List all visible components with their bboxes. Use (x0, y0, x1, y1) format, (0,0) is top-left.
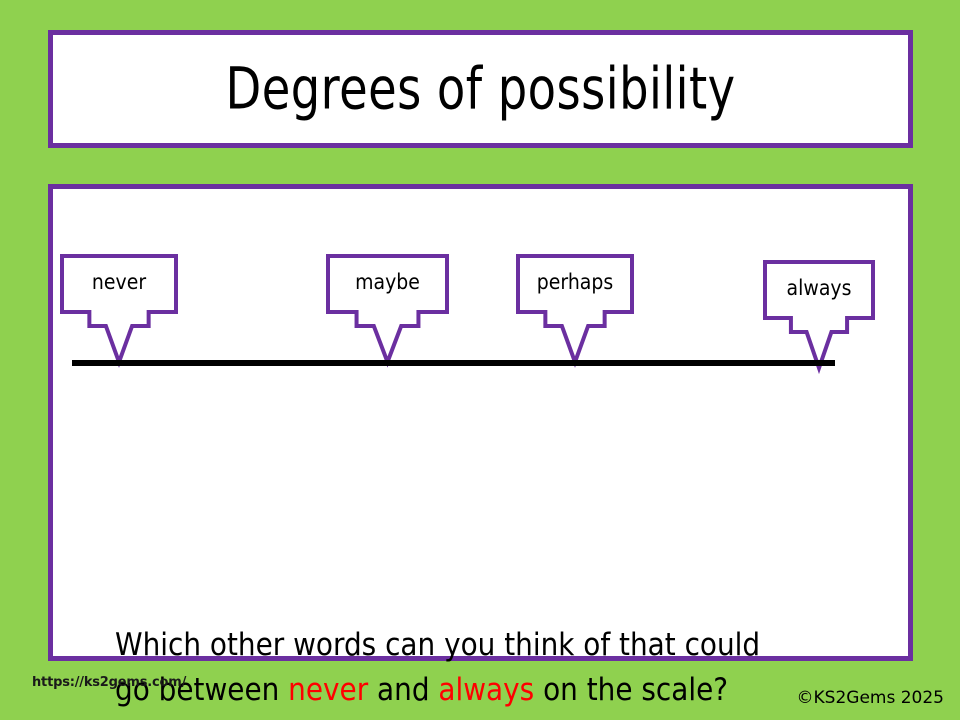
callout-maybe[interactable]: maybe (328, 256, 447, 362)
question-highlight-never: never (288, 672, 368, 708)
callout-perhaps[interactable]: perhaps (518, 256, 632, 362)
copyright-label: ©KS2Gems 2025 (797, 688, 944, 708)
page-title: Degrees of possibility (225, 60, 735, 118)
question-line2-suffix: on the scale? (534, 672, 728, 708)
callout-label-never: never (68, 272, 171, 293)
question-line-1: Which other words can you think of that … (115, 623, 862, 668)
title-panel: Degrees of possibility (48, 30, 913, 148)
question-text: Which other words can you think of that … (115, 623, 862, 713)
callout-label-perhaps: perhaps (524, 272, 627, 293)
question-line1-text: Which other words can you think of that … (115, 627, 760, 663)
question-highlight-always: always (438, 672, 534, 708)
callout-always[interactable]: always (765, 262, 873, 368)
scale-line (72, 360, 835, 366)
callout-label-maybe: maybe (334, 272, 441, 293)
slide-canvas: Degrees of possibility nevermaybeperhaps… (0, 0, 960, 720)
callout-label-always: always (770, 278, 867, 299)
question-line2-middle: and (368, 672, 438, 708)
site-url-label: https://ks2gems.com/ (32, 675, 186, 690)
callout-never[interactable]: never (62, 256, 176, 362)
content-panel: nevermaybeperhapsalways Which other word… (48, 184, 913, 661)
question-line-2: go between never and always on the scale… (115, 668, 862, 713)
